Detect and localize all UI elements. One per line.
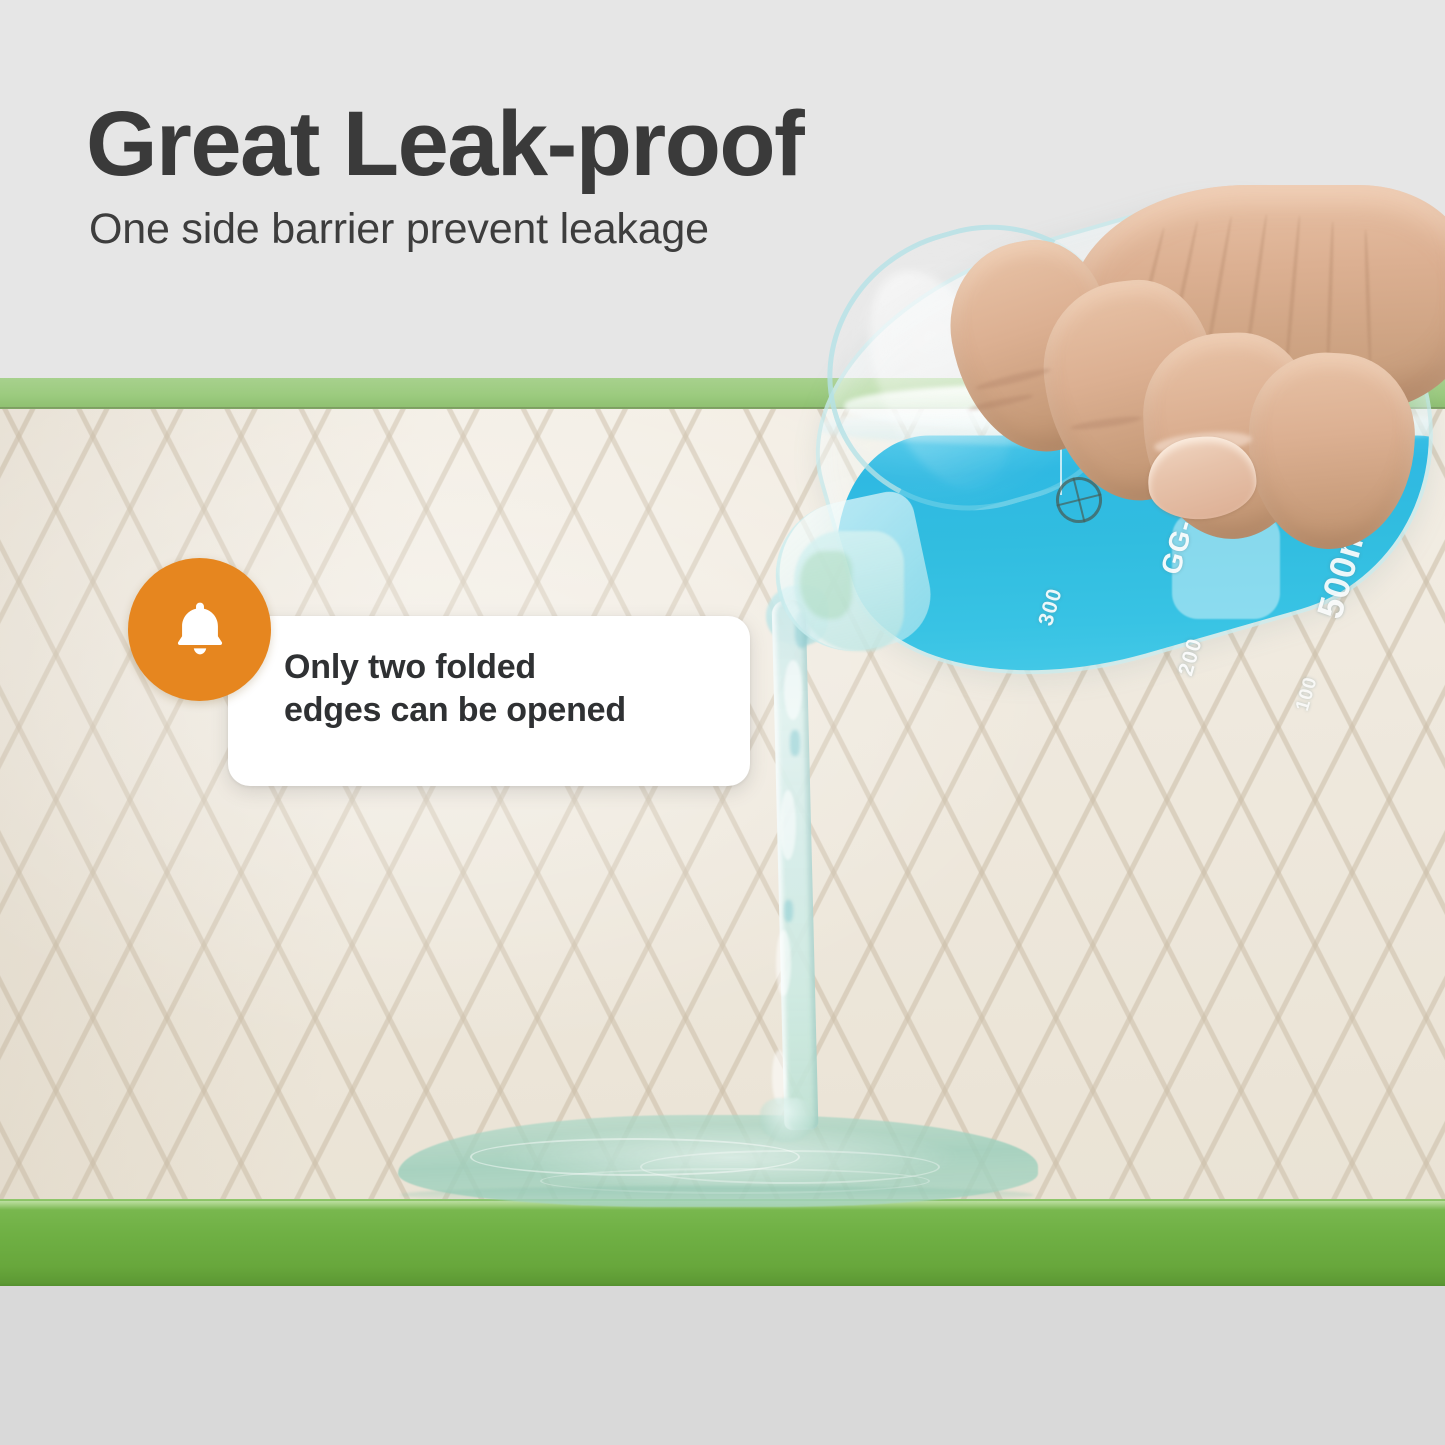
footer-band — [0, 1286, 1445, 1445]
page-subtitle: One side barrier prevent leakage — [89, 203, 709, 255]
callout-line-1: Only two folded — [284, 648, 536, 686]
page-title: Great Leak-proof — [86, 98, 803, 190]
hand — [930, 185, 1445, 585]
stream-highlight — [780, 790, 796, 860]
stream-tint — [784, 900, 793, 922]
pool-edge-shadow — [400, 1186, 1034, 1204]
pad-trim-bottom — [0, 1199, 1445, 1288]
callout-line-2: edges can be opened — [284, 689, 744, 732]
stream-impact-splash — [760, 1098, 814, 1142]
callout-badge — [128, 558, 271, 701]
stream-highlight — [772, 1050, 786, 1104]
product-feature-image: Great Leak-proof One side barrier preven… — [0, 0, 1445, 1445]
stream-highlight — [776, 930, 791, 996]
callout-text: Only two folded edges can be opened — [284, 646, 744, 732]
bell-icon — [169, 597, 231, 659]
stream-tint — [790, 730, 800, 756]
